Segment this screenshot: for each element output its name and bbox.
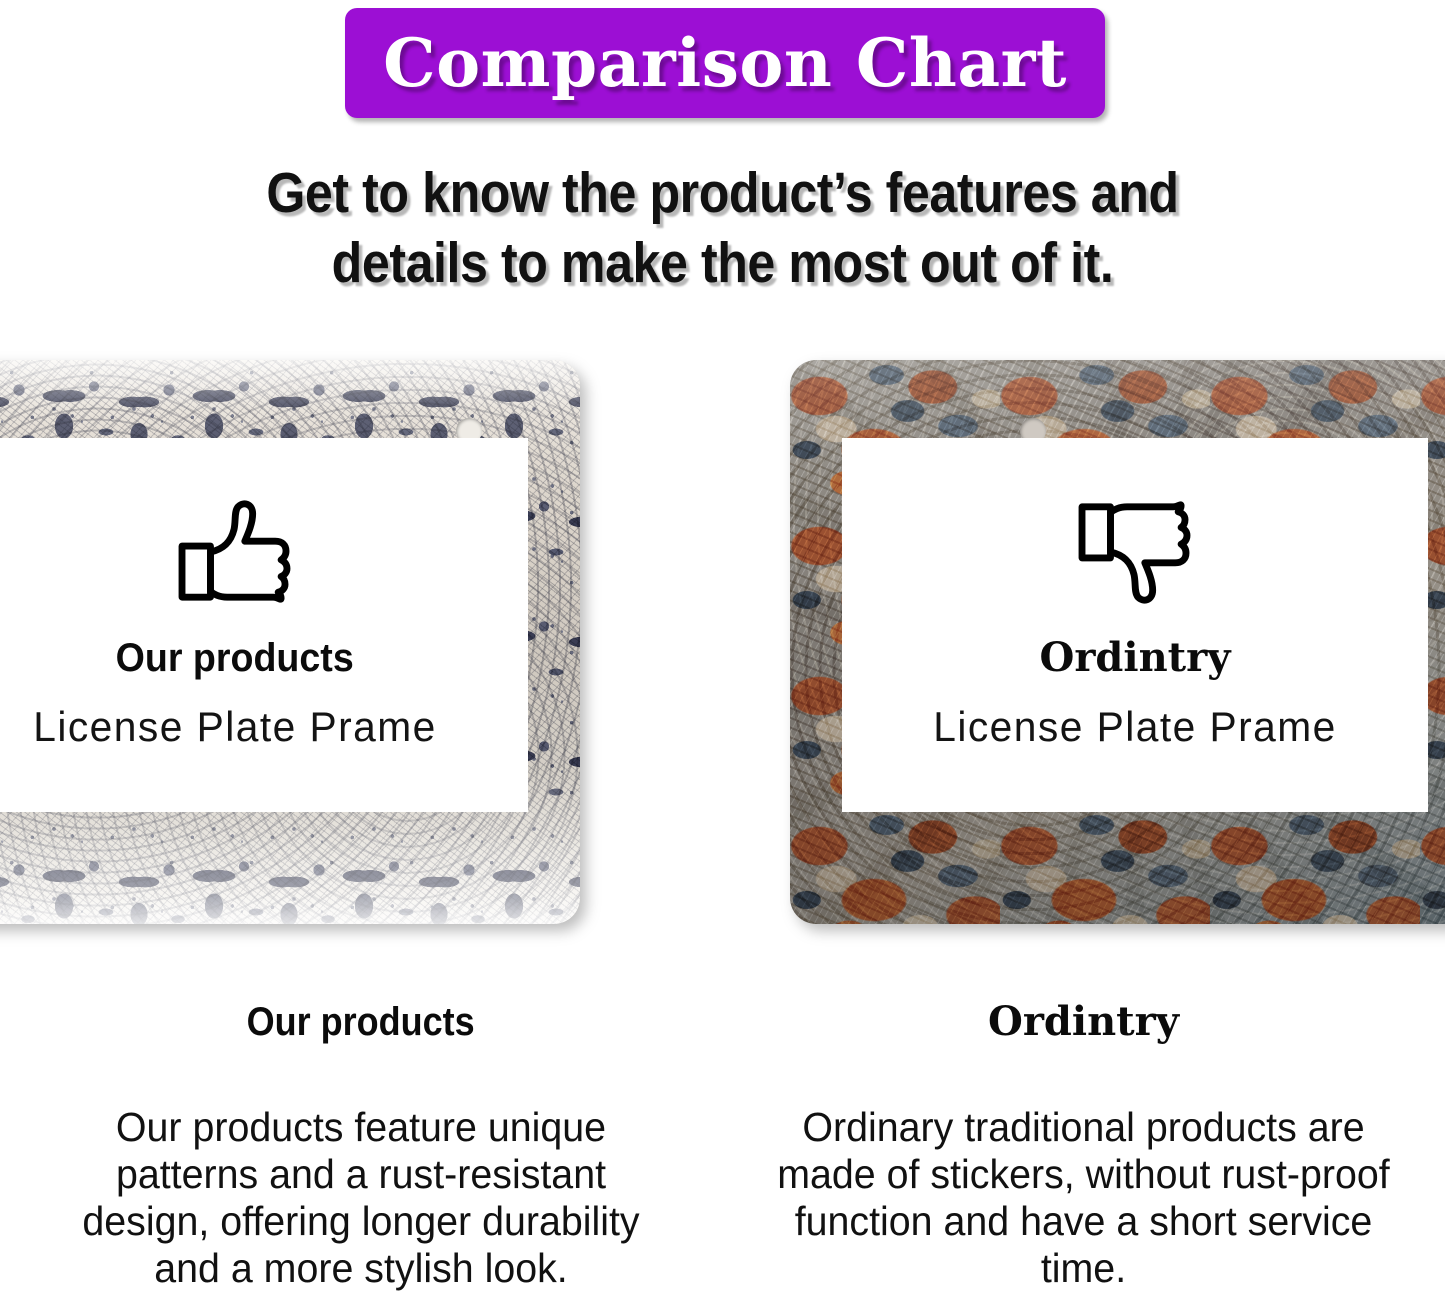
- plate-window-our-products: Our products License Plate Prame: [0, 438, 528, 812]
- subtitle-line-1: Get to know the product’s features and: [87, 158, 1359, 228]
- subtitle: Get to know the product’s features and d…: [87, 158, 1359, 298]
- title-badge: Comparison Chart: [345, 8, 1105, 118]
- thumbs-up-icon: [176, 500, 294, 604]
- plate-title-ordintry: Ordintry: [1040, 638, 1231, 678]
- header: Comparison Chart Get to know the product…: [0, 0, 1445, 320]
- caption-heading-ordintry: Ordintry: [988, 1002, 1179, 1042]
- page-title: Comparison Chart: [383, 30, 1067, 96]
- subtitle-line-2: details to make the most out of it.: [87, 228, 1359, 298]
- thumbs-down-icon: [1076, 500, 1194, 604]
- caption-heading-our-products: Our products: [247, 1002, 475, 1042]
- plate-window-ordintry: Ordintry License Plate Prame: [842, 438, 1428, 812]
- captions-row: Our products Our products feature unique…: [0, 990, 1445, 1314]
- comparison-frames: Our products License Plate Prame Ordintr…: [0, 352, 1445, 932]
- caption-column-our-products: Our products Our products feature unique…: [0, 990, 722, 1314]
- caption-column-ordintry: Ordintry Ordinary traditional products a…: [722, 990, 1445, 1314]
- plate-subtitle-ordintry: License Plate Prame: [933, 706, 1337, 748]
- plate-subtitle-our-products: License Plate Prame: [33, 706, 437, 748]
- plate-frame-ordintry: Ordintry License Plate Prame: [790, 360, 1445, 924]
- plate-frame-our-products: Our products License Plate Prame: [0, 360, 580, 924]
- plate-title-our-products: Our products: [116, 638, 354, 678]
- caption-body-our-products: Our products feature unique patterns and…: [53, 1104, 669, 1292]
- caption-body-ordintry: Ordinary traditional products are made o…: [775, 1104, 1392, 1292]
